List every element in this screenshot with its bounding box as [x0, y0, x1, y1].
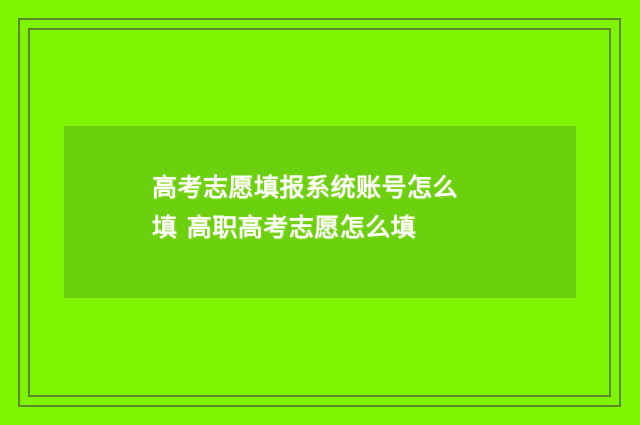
title-block: 高考志愿填报系统账号怎么 填 高职高考志愿怎么填: [152, 168, 552, 248]
title-line-1: 高考志愿填报系统账号怎么: [152, 168, 552, 208]
content-panel: 高考志愿填报系统账号怎么 填 高职高考志愿怎么填: [64, 126, 576, 298]
title-line-2: 填 高职高考志愿怎么填: [152, 208, 552, 248]
poster-canvas: 高考志愿填报系统账号怎么 填 高职高考志愿怎么填: [0, 0, 640, 425]
